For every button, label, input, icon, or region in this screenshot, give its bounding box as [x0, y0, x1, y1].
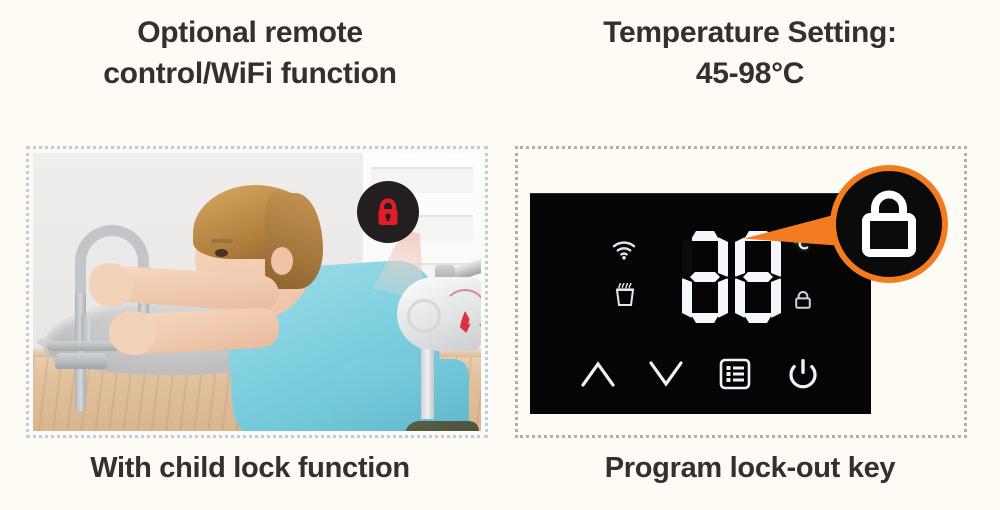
temperature-display: 98: [682, 231, 781, 323]
lock-icon: [373, 196, 403, 228]
child-shorts: [405, 421, 479, 431]
left-heading: Optional remote control/WiFi function: [10, 12, 490, 95]
right-heading-line2: 45-98°C: [510, 53, 990, 94]
lock-indicator-icon: [792, 289, 814, 316]
up-button[interactable]: [575, 351, 621, 397]
faucet-column: [75, 293, 86, 411]
left-image-panel: [26, 146, 488, 438]
faucet-base: [55, 353, 107, 369]
feature-panel-page: Optional remote control/WiFi function: [0, 0, 1000, 510]
touch-button-row: [530, 343, 871, 405]
child-eye: [215, 249, 228, 257]
child-hand-left: [89, 263, 133, 307]
display-row: 98 ℃: [530, 231, 871, 327]
child-hand-right: [109, 311, 155, 355]
child-lock-photo: [33, 153, 481, 431]
wifi-icon: [612, 241, 636, 265]
status-icon-column: [610, 239, 644, 321]
lock-callout-badge: [830, 165, 948, 283]
right-heading-line1: Temperature Setting:: [510, 12, 990, 53]
temperature-digit-1: [682, 231, 728, 323]
child-hair-back: [265, 193, 323, 289]
left-caption: With child lock function: [10, 452, 490, 485]
heating-icon: [614, 283, 636, 312]
temperature-digit-2: [735, 231, 781, 323]
right-image-panel: 98 ℃: [515, 146, 967, 438]
left-heading-line1: Optional remote: [10, 12, 490, 53]
right-heading: Temperature Setting: 45-98°C: [510, 12, 990, 95]
child-ear: [271, 247, 293, 275]
heater-stand: [421, 349, 434, 419]
heater-knob: [407, 299, 441, 333]
lock-badge: [357, 181, 419, 243]
child-eyebrow: [211, 239, 233, 243]
lock-icon: [856, 187, 922, 261]
right-caption: Program lock-out key: [510, 452, 990, 485]
menu-button[interactable]: [712, 351, 758, 397]
left-heading-line2: control/WiFi function: [10, 53, 490, 94]
down-button[interactable]: [643, 351, 689, 397]
power-button[interactable]: [780, 351, 826, 397]
faucet-handle: [47, 341, 119, 351]
unit-and-lock-column: ℃: [792, 235, 832, 323]
